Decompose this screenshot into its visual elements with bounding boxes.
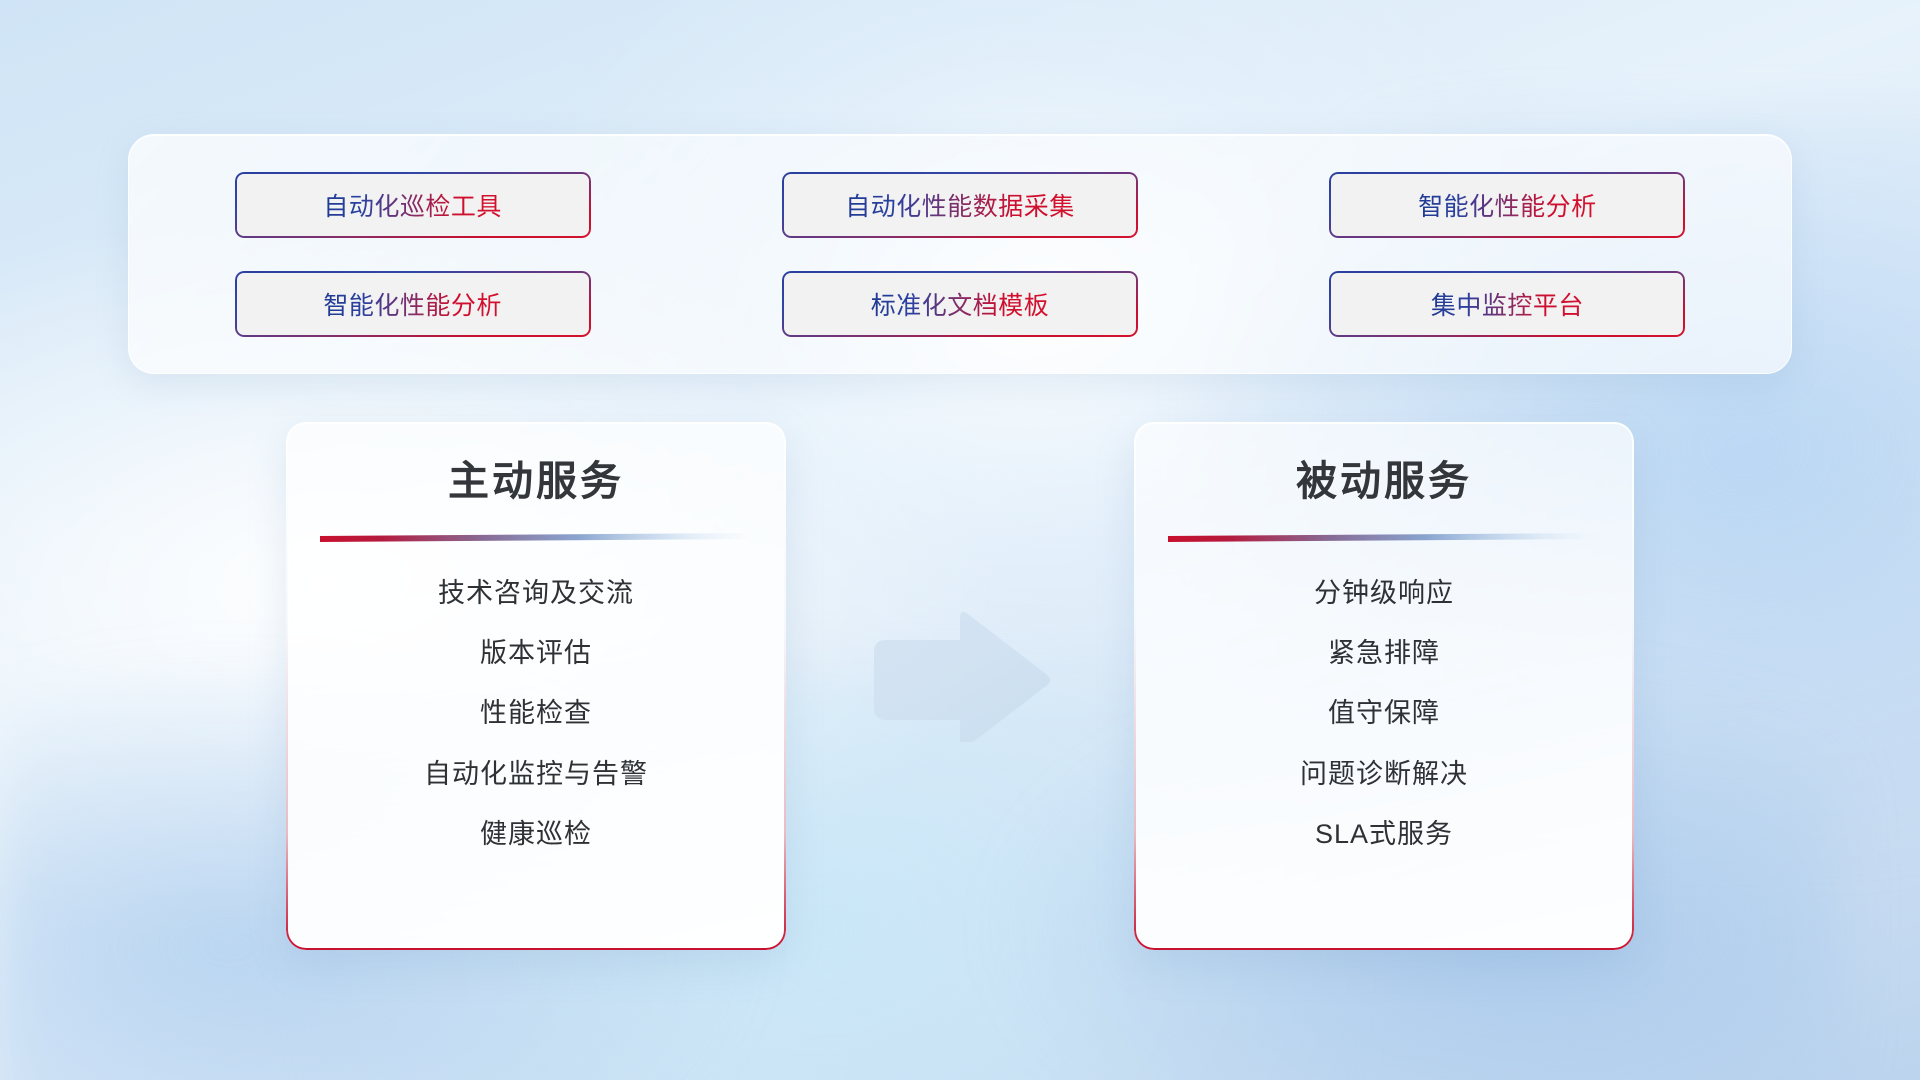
capability-pill[interactable]: 自动化巡检工具 [235, 172, 591, 238]
service-list-item: SLA式服务 [1315, 817, 1453, 852]
service-list-item: 版本评估 [480, 636, 592, 671]
card-divider [320, 533, 752, 542]
service-item-list: 技术咨询及交流 版本评估 性能检查 自动化监控与告警 健康巡检 [316, 576, 756, 851]
capability-pill-label: 自动化巡检工具 [323, 187, 502, 223]
service-card-active: 主动服务 技术咨询及交流 版本评估 性能检查 自动化监控与告警 健康巡检 [286, 422, 786, 950]
arrow-right-icon [866, 610, 1056, 742]
service-item-list: 分钟级响应 紧急排障 值守保障 问题诊断解决 SLA式服务 [1164, 576, 1604, 851]
capability-pill[interactable]: 自动化性能数据采集 [782, 172, 1138, 238]
capability-pill-label: 标准化文档模板 [871, 286, 1050, 322]
capability-pill-label: 智能化性能分析 [1418, 187, 1597, 223]
service-list-item: 自动化监控与告警 [424, 757, 648, 792]
capability-pill[interactable]: 智能化性能分析 [235, 271, 591, 337]
service-list-item: 紧急排障 [1328, 636, 1440, 671]
service-list-item: 值守保障 [1328, 696, 1440, 731]
card-title: 被动服务 [1164, 456, 1604, 507]
service-list-item: 分钟级响应 [1314, 576, 1454, 611]
capability-pill[interactable]: 智能化性能分析 [1329, 172, 1685, 238]
service-list-item: 技术咨询及交流 [438, 576, 634, 611]
capability-pill[interactable]: 标准化文档模板 [782, 271, 1138, 337]
capability-pill-label: 智能化性能分析 [323, 286, 502, 322]
capability-pill-grid: 自动化巡检工具 自动化性能数据采集 智能化性能分析 智能化性能分析 标准化文档模… [209, 169, 1711, 339]
card-title: 主动服务 [316, 456, 756, 507]
service-card-passive: 被动服务 分钟级响应 紧急排障 值守保障 问题诊断解决 SLA式服务 [1134, 422, 1634, 950]
service-list-item: 问题诊断解决 [1300, 757, 1468, 792]
capability-pill[interactable]: 集中监控平台 [1329, 271, 1685, 337]
card-divider [1168, 533, 1600, 542]
capability-panel: 自动化巡检工具 自动化性能数据采集 智能化性能分析 智能化性能分析 标准化文档模… [128, 134, 1792, 374]
capability-pill-label: 自动化性能数据采集 [845, 187, 1075, 223]
capability-pill-label: 集中监控平台 [1431, 286, 1584, 322]
service-list-item: 健康巡检 [480, 817, 592, 852]
service-list-item: 性能检查 [480, 696, 592, 731]
